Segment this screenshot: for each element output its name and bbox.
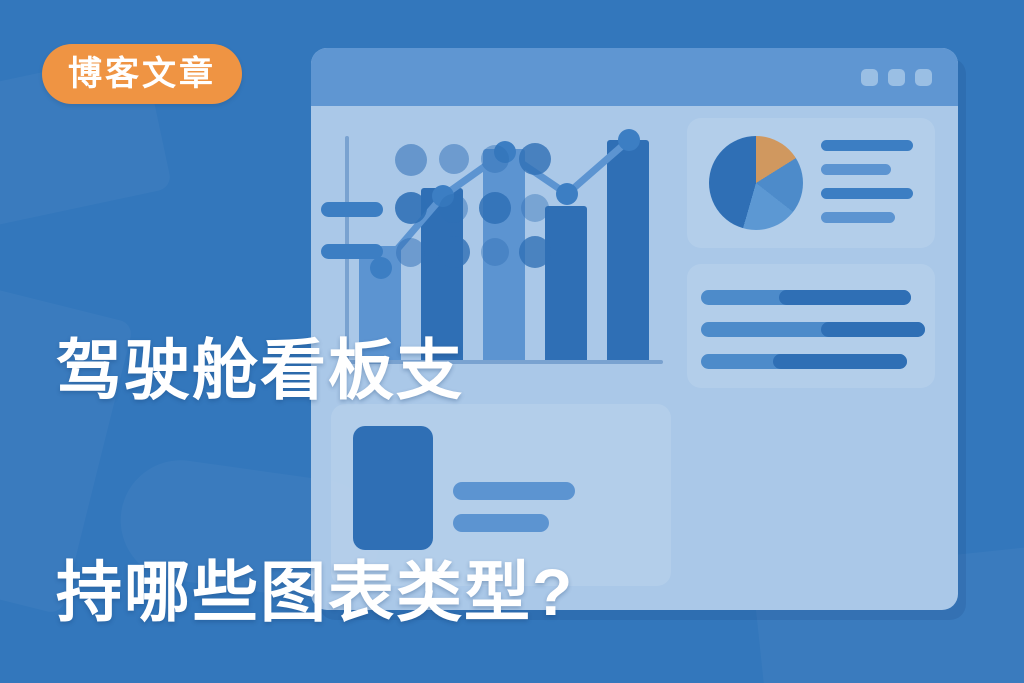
pie-chart-card — [687, 118, 935, 248]
page-title: 驾驶舱看板支 持哪些图表类型? 可视化配置技巧大全 — [56, 186, 668, 683]
hbar-fill — [773, 354, 907, 369]
window-titlebar — [311, 48, 958, 106]
hbar-track — [701, 290, 911, 305]
matrix-bubble — [519, 143, 551, 175]
matrix-bubble — [481, 145, 509, 173]
page-title-line-1: 驾驶舱看板支 — [56, 334, 668, 408]
poster-canvas: 博客文章 驾驶舱看板支 持哪些图表类型? 可视化配置技巧大全 — [0, 0, 1024, 683]
legend-item — [821, 140, 913, 151]
legend-item — [821, 164, 891, 175]
maximize-dot-icon[interactable] — [888, 69, 905, 86]
category-badge[interactable]: 博客文章 — [42, 44, 242, 104]
category-badge-label: 博客文章 — [68, 57, 216, 91]
hbar-track — [701, 354, 907, 369]
hbar-fill — [779, 290, 911, 305]
legend-item — [821, 188, 913, 199]
page-title-line-2: 持哪些图表类型? — [56, 556, 668, 630]
horizontal-bar-card — [687, 264, 935, 388]
close-dot-icon[interactable] — [915, 69, 932, 86]
pie-legend — [821, 140, 913, 236]
minimize-dot-icon[interactable] — [861, 69, 878, 86]
hbar-fill — [821, 322, 925, 337]
hbar-track — [701, 322, 925, 337]
legend-item — [821, 212, 895, 223]
pie-chart-icon — [709, 136, 803, 230]
matrix-bubble — [439, 144, 469, 174]
matrix-bubble — [395, 144, 427, 176]
